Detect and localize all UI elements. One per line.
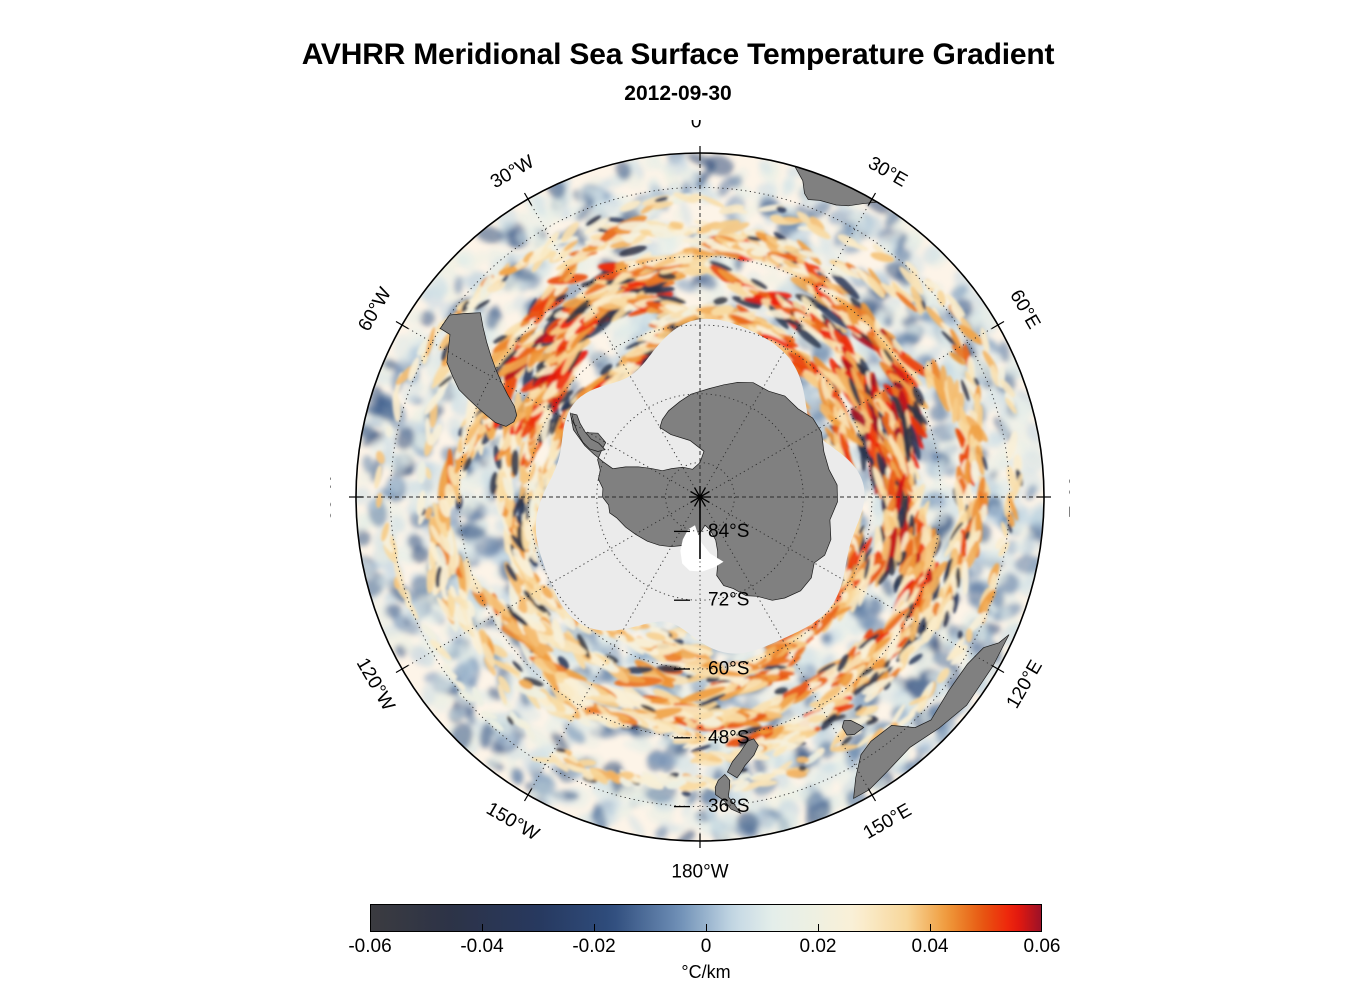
figure-date: 2012-09-30: [0, 82, 1356, 106]
colorbar-tick-label: 0.04: [912, 936, 949, 958]
longitude-label: 90°W: [330, 474, 336, 521]
longitude-label: 120°E: [1003, 657, 1047, 713]
figure-canvas: AVHRR Meridional Sea Surface Temperature…: [0, 0, 1356, 1000]
colorbar-unit-label: °C/km: [370, 962, 1042, 983]
colorbar-tick-label: -0.02: [572, 936, 615, 958]
latitude-label: 72°S: [708, 590, 749, 611]
longitude-label: 60°W: [354, 284, 396, 335]
longitude-label: 30°E: [864, 153, 910, 192]
colorbar-tick-label: 0.02: [800, 936, 837, 958]
colorbar-tick-label: -0.04: [460, 936, 503, 958]
longitude-label: 30°W: [487, 151, 538, 193]
colorbar-tick-labels: -0.06-0.04-0.0200.020.040.06: [370, 936, 1042, 960]
longitude-label: 120°W: [352, 654, 399, 714]
latitude-label: 84°S: [708, 521, 749, 542]
longitude-label: 90°E: [1065, 476, 1071, 517]
longitude-label: 0°: [691, 120, 709, 133]
page-title: AVHRR Meridional Sea Surface Temperature…: [0, 38, 1356, 72]
longitude-label: 150°W: [482, 798, 542, 845]
colorbar-tick-label: 0: [701, 936, 712, 958]
longitude-label: 180°W: [671, 862, 728, 881]
colorbar-tick-label: -0.06: [348, 936, 391, 958]
latitude-label: 36°S: [708, 796, 749, 817]
colorbar: -0.06-0.04-0.0200.020.040.06 °C/km: [370, 900, 1042, 996]
latitude-label: 60°S: [708, 659, 749, 680]
longitude-label: 60°E: [1005, 286, 1044, 332]
polar-map-svg: 0°30°E60°E90°E120°E150°E180°W150°W120°W9…: [330, 120, 1070, 880]
colorbar-tick-label: 0.06: [1024, 936, 1061, 958]
colorbar-gradient: [370, 904, 1042, 932]
latitude-label: 48°S: [708, 727, 749, 748]
longitude-label: 150°E: [860, 800, 916, 844]
polar-map: 0°30°E60°E90°E120°E150°E180°W150°W120°W9…: [330, 120, 1070, 880]
title-block: AVHRR Meridional Sea Surface Temperature…: [0, 38, 1356, 106]
